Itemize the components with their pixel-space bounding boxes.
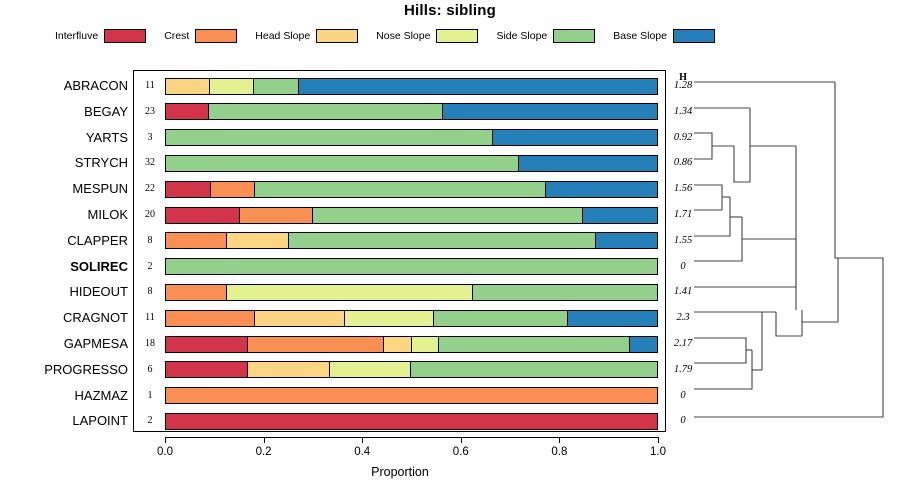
bar-segment-side-slope[interactable] <box>289 233 596 248</box>
bar-segment-base-slope[interactable] <box>583 208 657 223</box>
bar-segment-head-slope[interactable] <box>248 362 330 377</box>
stacked-bar[interactable] <box>165 310 658 327</box>
stacked-bar[interactable] <box>165 232 658 249</box>
row-label-solirec: SOLIREC <box>5 255 128 279</box>
bar-segment-base-slope[interactable] <box>493 130 657 145</box>
bar-segment-side-slope[interactable] <box>439 337 630 352</box>
x-axis-line <box>165 437 658 438</box>
row-n-value: 22 <box>136 177 164 201</box>
bar-segment-crest[interactable] <box>166 311 255 326</box>
bar-segment-nose-slope[interactable] <box>210 79 254 94</box>
x-axis-title: Proportion <box>0 465 800 479</box>
row-n-value: 20 <box>136 203 164 227</box>
row-n-value: 1 <box>136 384 164 408</box>
x-axis-tick <box>165 437 166 443</box>
bar-segment-interfluve[interactable] <box>166 208 240 223</box>
bar-segment-nose-slope[interactable] <box>345 311 434 326</box>
row-n-value: 11 <box>136 306 164 330</box>
stacked-bar[interactable] <box>165 181 658 198</box>
row-n-value: 2 <box>136 409 164 433</box>
row-n-value: 8 <box>136 280 164 304</box>
stacked-bar[interactable] <box>165 258 658 275</box>
x-axis-tick <box>264 437 265 443</box>
legend-label: Head Slope <box>255 30 310 42</box>
bar-segment-interfluve[interactable] <box>166 414 657 429</box>
bar-segment-nose-slope[interactable] <box>412 337 439 352</box>
legend-label: Side Slope <box>496 30 547 42</box>
bar-segment-nose-slope[interactable] <box>330 362 412 377</box>
x-axis-tick <box>461 437 462 443</box>
bar-segment-side-slope[interactable] <box>255 182 545 197</box>
row-label-hideout: HIDEOUT <box>5 280 128 304</box>
bar-segment-crest[interactable] <box>166 285 227 300</box>
legend-label: Interfluve <box>55 30 98 42</box>
row-n-value: 23 <box>136 100 164 124</box>
row-label-clapper: CLAPPER <box>5 229 128 253</box>
bar-segment-head-slope[interactable] <box>255 311 344 326</box>
bar-segment-head-slope[interactable] <box>166 79 210 94</box>
row-n-value: 32 <box>136 151 164 175</box>
row-label-strych: STRYCH <box>5 151 128 175</box>
row-label-begay: BEGAY <box>5 100 128 124</box>
legend-swatch <box>673 29 715 43</box>
stacked-bar[interactable] <box>165 284 658 301</box>
row-label-lapoint: LAPOINT <box>5 409 128 433</box>
bar-segment-side-slope[interactable] <box>313 208 583 223</box>
x-axis-tick <box>559 437 560 443</box>
legend-swatch <box>553 29 595 43</box>
bar-segment-base-slope[interactable] <box>443 104 657 119</box>
stacked-bar[interactable] <box>165 155 658 172</box>
stacked-bar[interactable] <box>165 207 658 224</box>
x-axis-tick-label: 1.0 <box>638 446 678 458</box>
bar-segment-base-slope[interactable] <box>568 311 657 326</box>
bar-segment-interfluve[interactable] <box>166 104 209 119</box>
bar-segment-side-slope[interactable] <box>166 259 657 274</box>
bar-segment-crest[interactable] <box>240 208 314 223</box>
x-axis-tick-label: 0.4 <box>342 446 382 458</box>
bar-segment-base-slope[interactable] <box>519 156 657 171</box>
bar-segment-base-slope[interactable] <box>299 79 657 94</box>
row-n-value: 11 <box>136 74 164 98</box>
stacked-bar[interactable] <box>165 78 658 95</box>
row-n-value: 18 <box>136 332 164 356</box>
bar-segment-side-slope[interactable] <box>166 130 493 145</box>
legend-label: Base Slope <box>613 30 667 42</box>
dendrogram <box>690 70 895 432</box>
row-label-mespun: MESPUN <box>5 177 128 201</box>
bar-segment-side-slope[interactable] <box>254 79 298 94</box>
bar-segment-head-slope[interactable] <box>384 337 411 352</box>
x-axis-tick-label: 0.0 <box>145 446 185 458</box>
legend-item-interfluve: Interfluve <box>55 29 146 43</box>
x-axis-tick <box>658 437 659 443</box>
row-label-cragnot: CRAGNOT <box>5 306 128 330</box>
legend-swatch <box>436 29 478 43</box>
row-label-progresso: PROGRESSO <box>5 358 128 382</box>
row-n-value: 8 <box>136 229 164 253</box>
legend-item-base-slope: Base Slope <box>613 29 715 43</box>
legend: InterfluveCrestHead SlopeNose SlopeSide … <box>55 26 775 46</box>
bar-segment-crest[interactable] <box>166 233 227 248</box>
stacked-bar[interactable] <box>165 336 658 353</box>
legend-swatch <box>195 29 237 43</box>
row-label-abracon: ABRACON <box>5 74 128 98</box>
bar-segment-crest[interactable] <box>166 388 657 403</box>
row-n-value: 2 <box>136 255 164 279</box>
row-n-value: 6 <box>136 358 164 382</box>
row-n-value: 3 <box>136 126 164 150</box>
x-axis-tick-label: 0.8 <box>539 446 579 458</box>
stacked-bar[interactable] <box>165 387 658 404</box>
legend-item-crest: Crest <box>164 29 237 43</box>
row-label-yarts: YARTS <box>5 126 128 150</box>
bar-segment-side-slope[interactable] <box>209 104 444 119</box>
row-label-milok: MILOK <box>5 203 128 227</box>
x-axis-tick-label: 0.2 <box>244 446 284 458</box>
legend-item-nose-slope: Nose Slope <box>376 29 478 43</box>
row-label-hazmaz: HAZMAZ <box>5 384 128 408</box>
bar-segment-crest[interactable] <box>211 182 256 197</box>
legend-swatch <box>316 29 358 43</box>
stacked-bar[interactable] <box>165 129 658 146</box>
legend-swatch <box>104 29 146 43</box>
bar-segment-head-slope[interactable] <box>227 233 288 248</box>
bar-segment-crest[interactable] <box>248 337 384 352</box>
x-axis-tick-label: 0.6 <box>441 446 481 458</box>
dendrogram-svg <box>690 70 895 432</box>
bar-segment-side-slope[interactable] <box>473 285 657 300</box>
legend-item-head-slope: Head Slope <box>255 29 358 43</box>
stacked-bar[interactable] <box>165 103 658 120</box>
bar-segment-base-slope[interactable] <box>596 233 657 248</box>
bar-segment-interfluve[interactable] <box>166 337 248 352</box>
legend-label: Crest <box>164 30 189 42</box>
page-title: Hills: sibling <box>0 2 900 19</box>
bar-segment-side-slope[interactable] <box>434 311 568 326</box>
bar-segment-interfluve[interactable] <box>166 362 248 377</box>
x-axis-tick <box>362 437 363 443</box>
row-label-gapmesa: GAPMESA <box>5 332 128 356</box>
stacked-bar[interactable] <box>165 361 658 378</box>
bar-segment-side-slope[interactable] <box>166 156 519 171</box>
legend-item-side-slope: Side Slope <box>496 29 595 43</box>
legend-label: Nose Slope <box>376 30 430 42</box>
bar-segment-side-slope[interactable] <box>411 362 657 377</box>
bar-segment-interfluve[interactable] <box>166 182 211 197</box>
bar-segment-nose-slope[interactable] <box>227 285 473 300</box>
bar-segment-base-slope[interactable] <box>546 182 657 197</box>
bar-segment-base-slope[interactable] <box>630 337 657 352</box>
stacked-bar[interactable] <box>165 413 658 430</box>
